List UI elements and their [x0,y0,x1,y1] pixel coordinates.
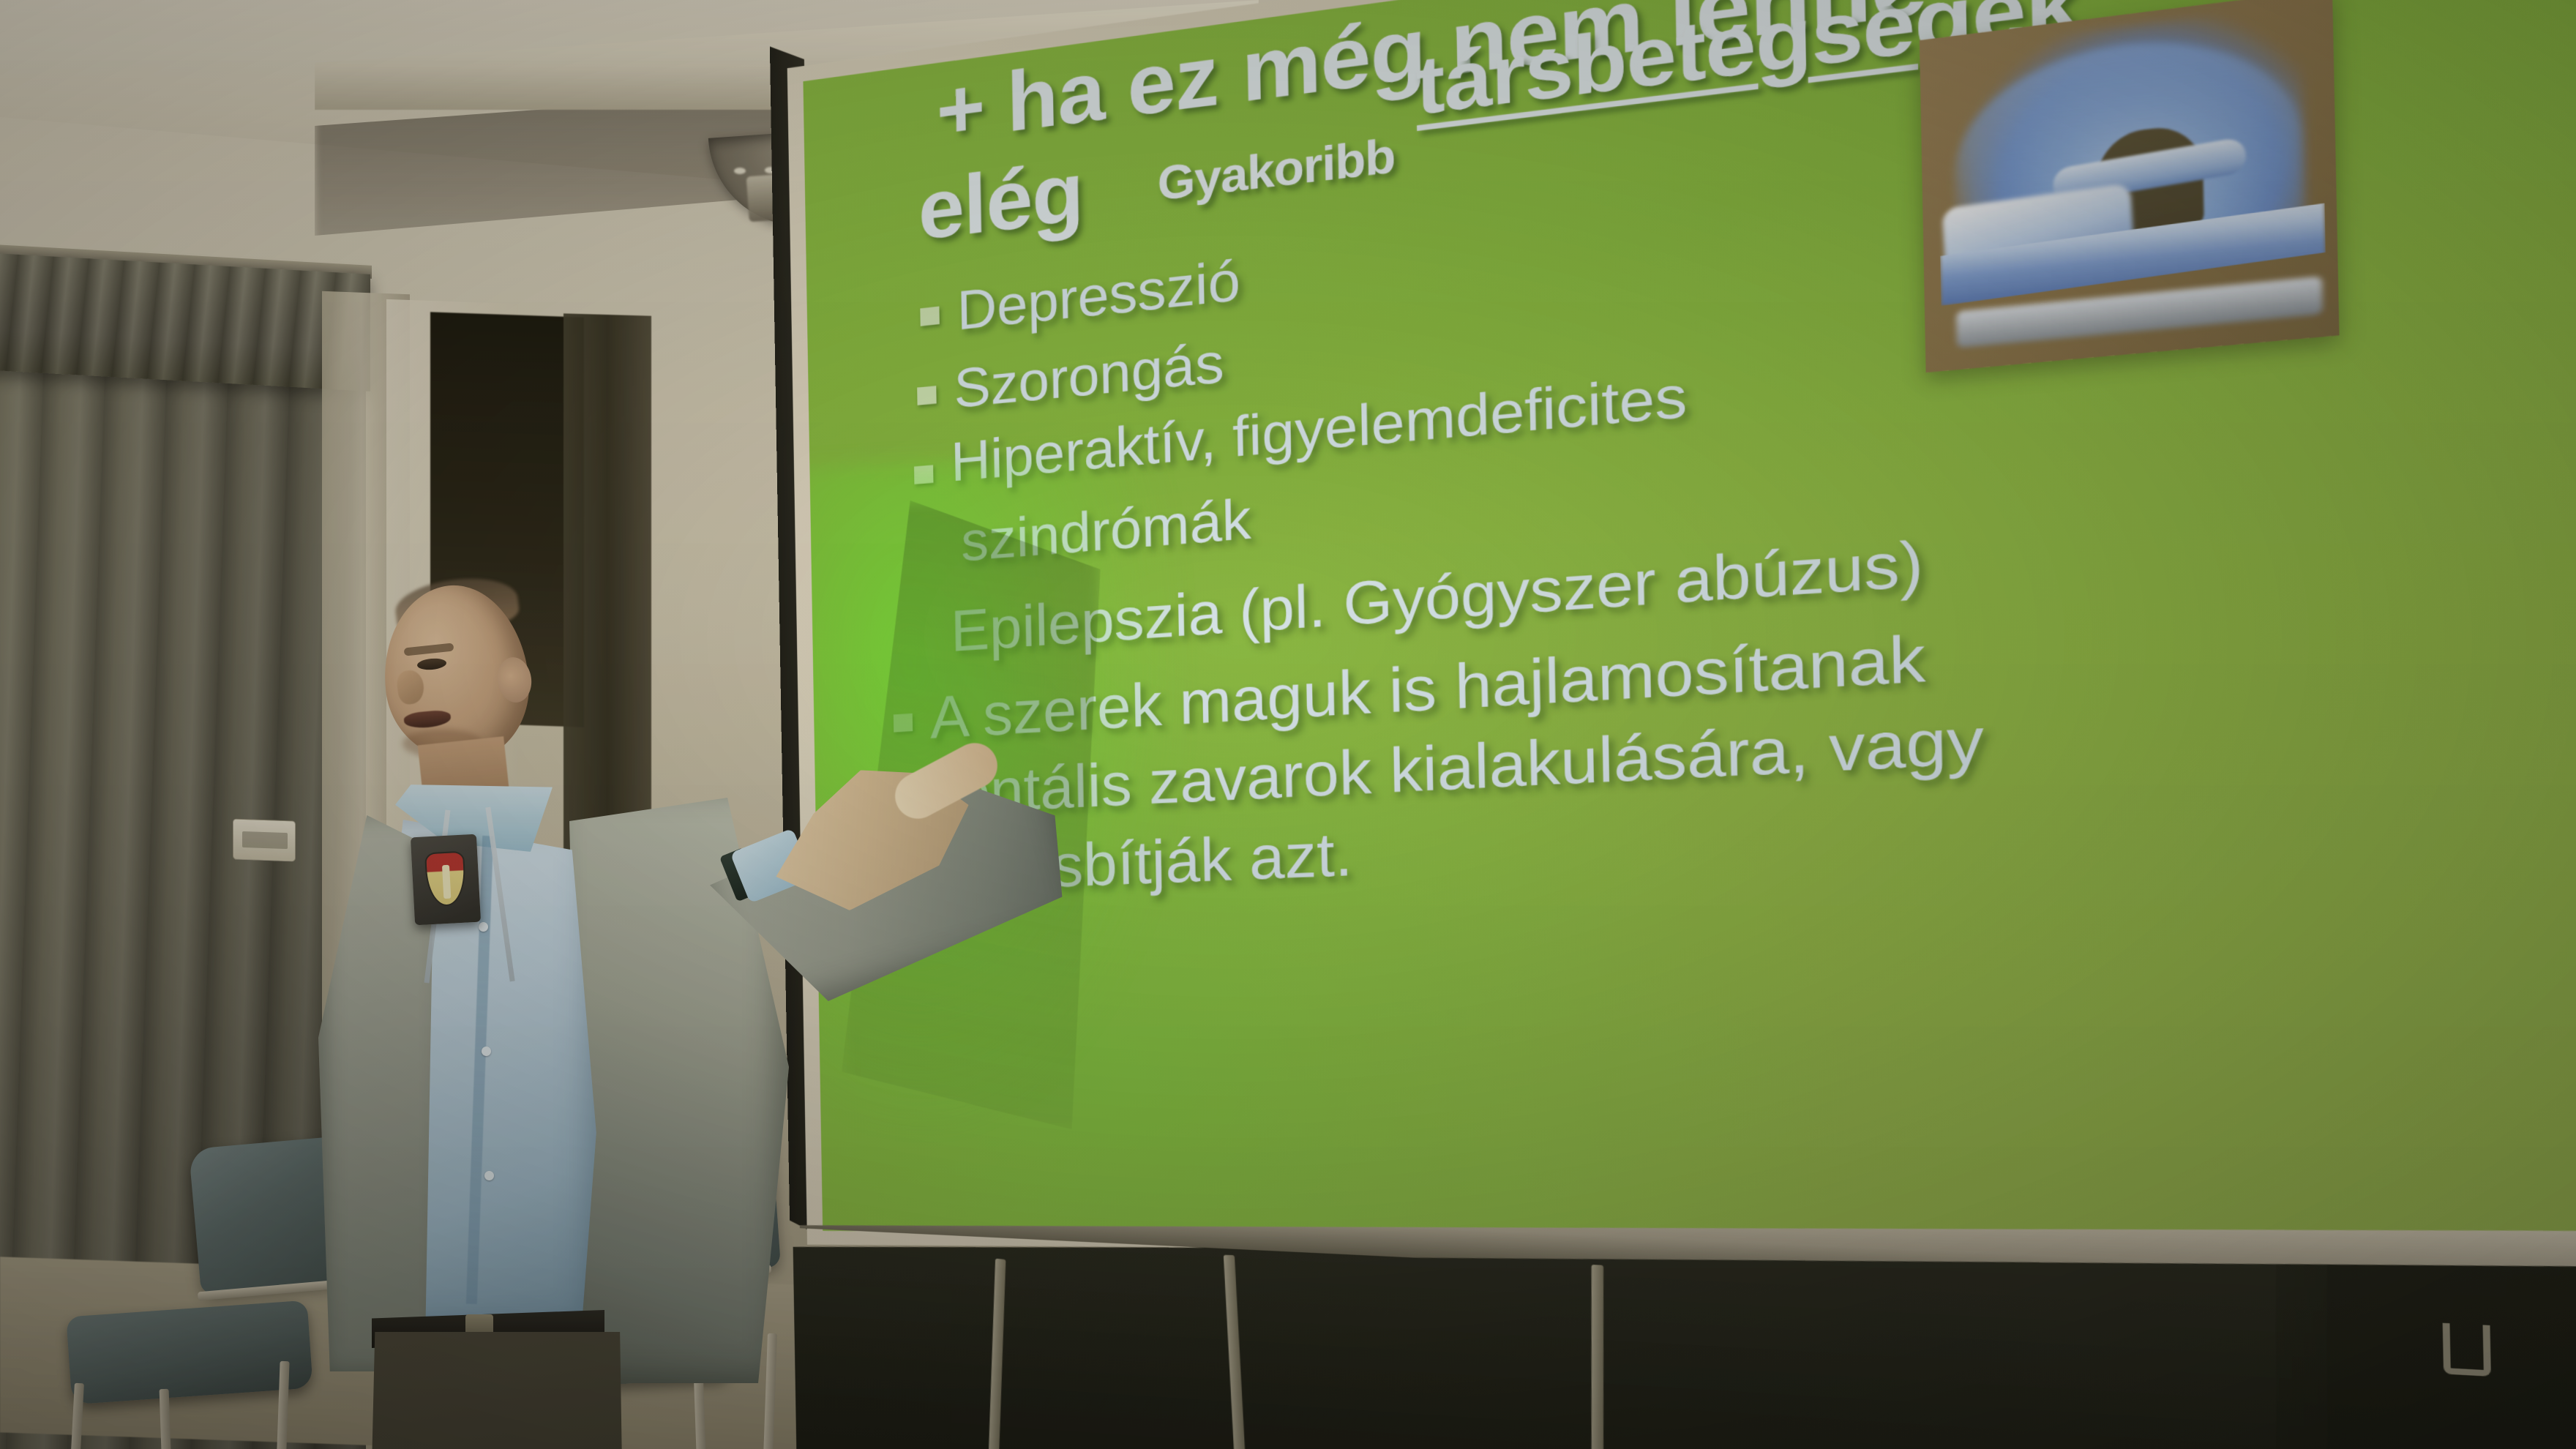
slide-title-subtitle: Gyakoribb [1157,128,1396,211]
bullet-marker [920,307,940,326]
chair-leg [69,1383,84,1449]
bullet-label: Depresszió [956,247,1241,342]
slide-title-line2: elég [918,143,1084,259]
bullet-label: Szorongás [954,329,1225,420]
bullet-marker [917,386,937,405]
speaker [278,578,834,1449]
projector-screen: + ha ez még nem lenne elég Gyakoribb tár… [786,0,2576,1449]
chair-seat [66,1300,313,1405]
id-badge [411,834,481,926]
tripod-hook [2443,1323,2491,1377]
tripod-leg [1592,1265,1603,1449]
dome-light-glint [734,168,746,174]
slide-image [1920,0,2340,372]
chair-leg [160,1389,173,1449]
curtain-valance [0,252,370,392]
shirt-button [484,1171,494,1180]
shirt-button [482,1046,491,1056]
presentation-photo: + ha ez még nem lenne elég Gyakoribb tár… [0,0,2576,1449]
shirt-button [479,922,488,932]
badge-emblem-icon [424,851,467,907]
speaker-trousers [359,1332,631,1449]
